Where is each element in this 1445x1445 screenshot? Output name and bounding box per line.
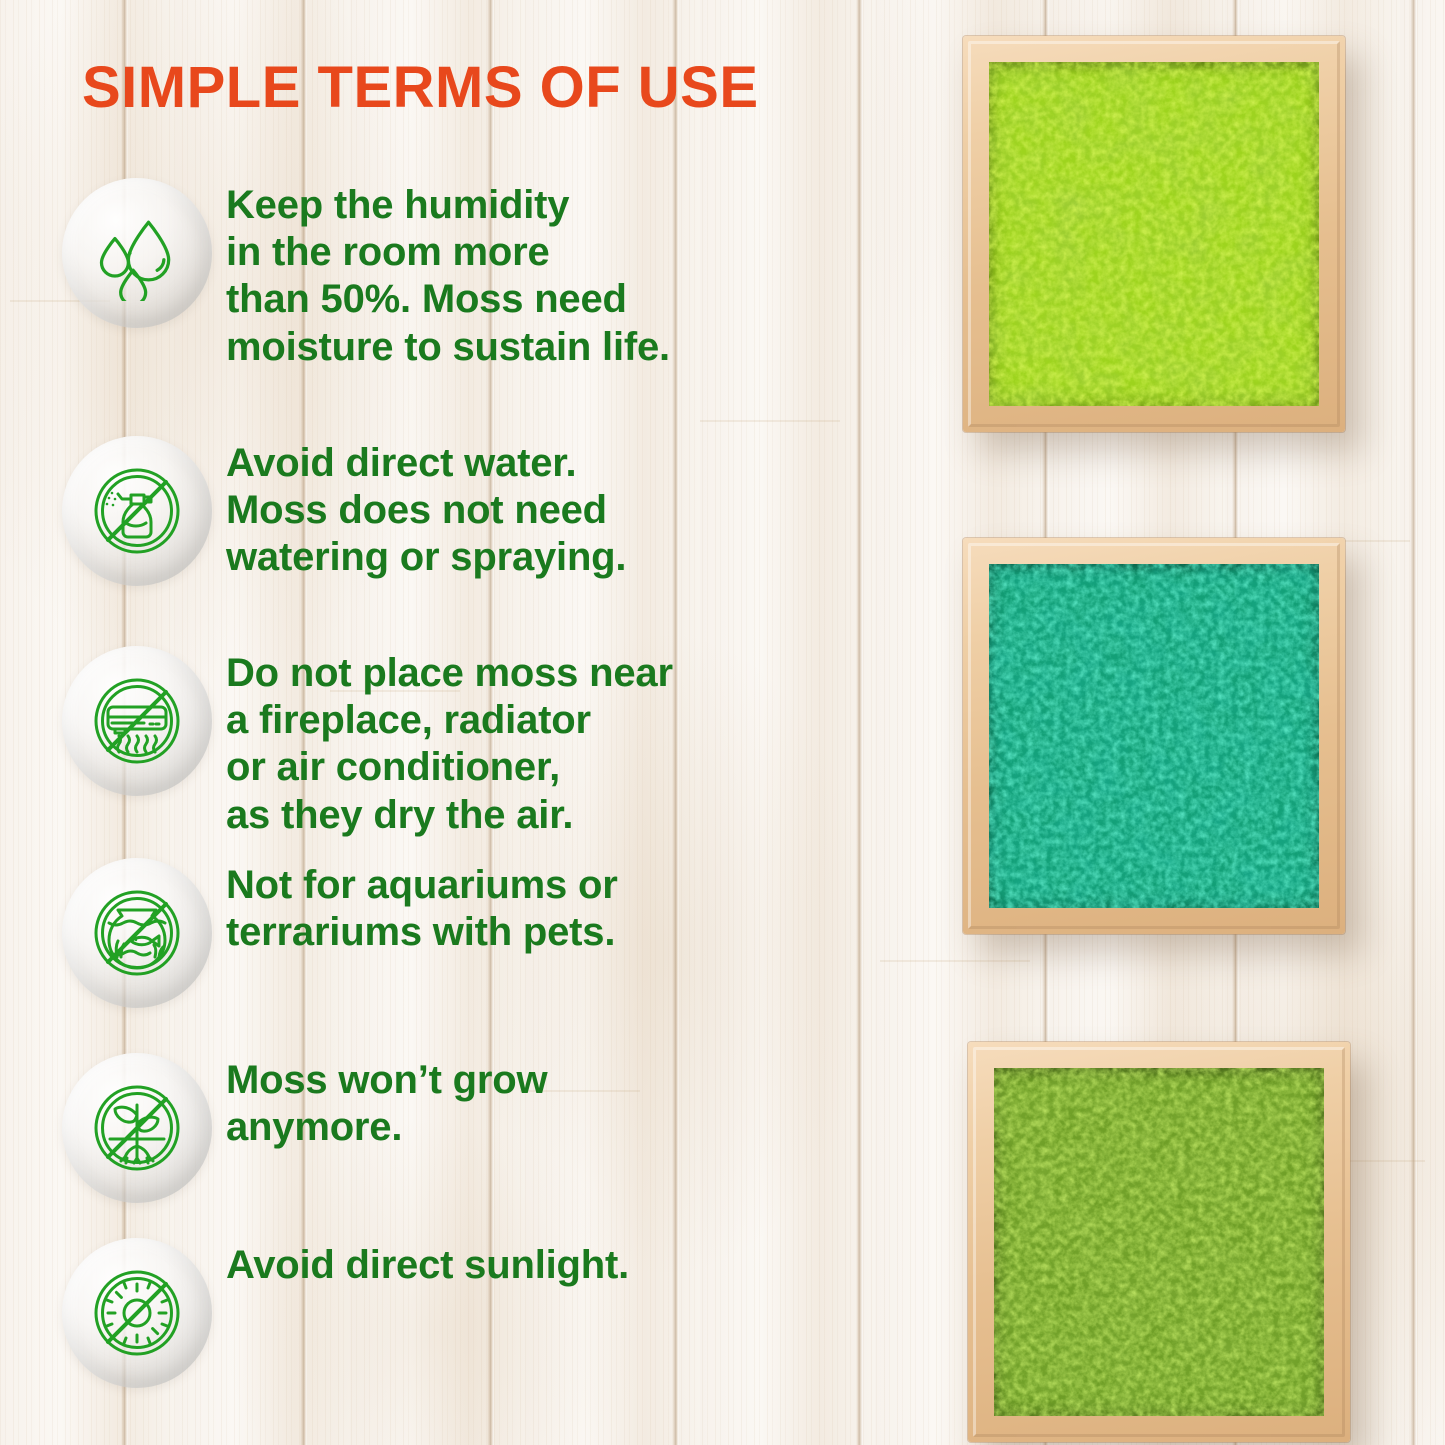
- rule-text: Keep the humidity in the room more than …: [226, 182, 670, 371]
- moss-frame-lime: [963, 36, 1345, 432]
- no-air-conditioner-icon: [62, 646, 212, 796]
- moss-surface: [989, 564, 1319, 908]
- page-title: SIMPLE TERMS OF USE: [82, 54, 759, 121]
- no-spray-bottle-icon: [62, 436, 212, 586]
- moss-surface: [989, 62, 1319, 406]
- plank-seam: [1410, 0, 1417, 1445]
- rule-item-no-sunlight: Avoid direct sunlight.: [62, 1238, 629, 1388]
- rule-text: Not for aquariums or terrariums with pet…: [226, 862, 618, 956]
- rule-text: Avoid direct sunlight.: [226, 1242, 629, 1289]
- rule-text: Do not place moss near a fireplace, radi…: [226, 650, 673, 839]
- plank-seam: [856, 0, 863, 1445]
- moss-surface: [994, 1068, 1324, 1416]
- no-aquarium-icon: [62, 858, 212, 1008]
- wood-grain-streak: [880, 960, 1030, 962]
- water-drops-icon: [62, 178, 212, 328]
- rule-item-no-aquarium: Not for aquariums or terrariums with pet…: [62, 858, 618, 1008]
- rule-item-no-direct-water: Avoid direct water. Moss does not need w…: [62, 436, 626, 586]
- rule-text: Avoid direct water. Moss does not need w…: [226, 440, 626, 582]
- rule-item-no-growth: Moss won’t grow anymore.: [62, 1053, 547, 1203]
- moss-frame-emerald: [963, 538, 1345, 934]
- no-plant-growth-icon: [62, 1053, 212, 1203]
- moss-frame-olive: [968, 1042, 1350, 1442]
- rule-item-no-heat-source: Do not place moss near a fireplace, radi…: [62, 646, 673, 839]
- rule-item-humidity: Keep the humidity in the room more than …: [62, 178, 670, 371]
- wood-grain-streak: [700, 420, 840, 422]
- plank-seam: [672, 0, 679, 1445]
- no-sunlight-icon: [62, 1238, 212, 1388]
- rule-text: Moss won’t grow anymore.: [226, 1057, 547, 1151]
